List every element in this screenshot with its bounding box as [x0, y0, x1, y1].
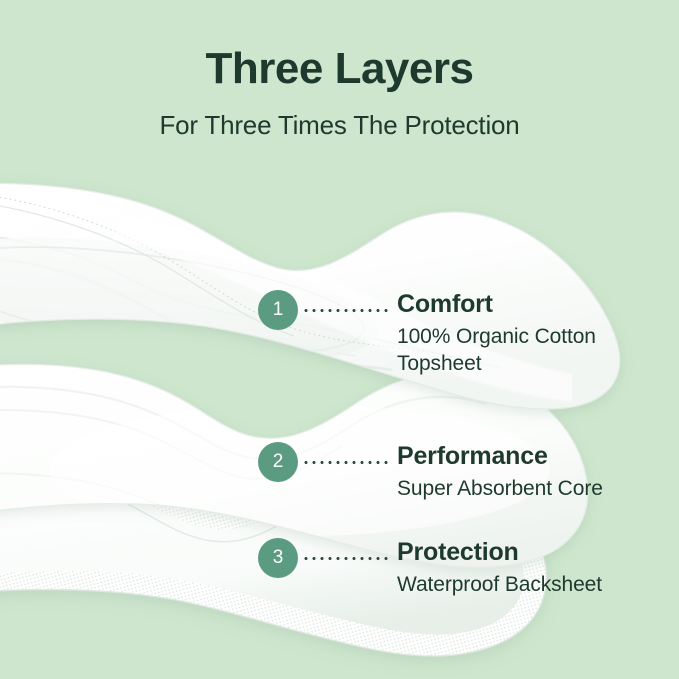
callout-1-description: 100% Organic Cotton Topsheet — [397, 324, 649, 378]
callout-1-heading: Comfort — [397, 290, 649, 318]
callout-3-description: Waterproof Backsheet — [397, 572, 602, 599]
callout-2-description: Super Absorbent Core — [397, 476, 603, 503]
badge-number-1: 1 — [258, 290, 298, 330]
page-subtitle: For Three Times The Protection — [0, 110, 679, 141]
callout-protection: 3 Protection Waterproof Backsheet — [258, 538, 602, 599]
leader-line-2 — [302, 442, 388, 482]
dotted-connector-icon — [302, 461, 388, 464]
callout-2-text: Performance Super Absorbent Core — [397, 442, 603, 503]
dotted-connector-icon — [302, 557, 388, 560]
header: Three Layers For Three Times The Protect… — [0, 0, 679, 141]
leader-line-1 — [302, 290, 388, 330]
badge-number-2: 2 — [258, 442, 298, 482]
page-title: Three Layers — [0, 46, 679, 92]
infographic-canvas: Three Layers For Three Times The Protect… — [0, 0, 679, 679]
callout-comfort: 1 Comfort 100% Organic Cotton Topsheet — [258, 290, 649, 378]
callout-3-heading: Protection — [397, 538, 602, 566]
callout-2-heading: Performance — [397, 442, 603, 470]
callout-1-text: Comfort 100% Organic Cotton Topsheet — [397, 290, 649, 378]
leader-line-3 — [302, 538, 388, 578]
callout-performance: 2 Performance Super Absorbent Core — [258, 442, 603, 503]
badge-number-3: 3 — [258, 538, 298, 578]
dotted-connector-icon — [302, 309, 388, 312]
callout-3-text: Protection Waterproof Backsheet — [397, 538, 602, 599]
